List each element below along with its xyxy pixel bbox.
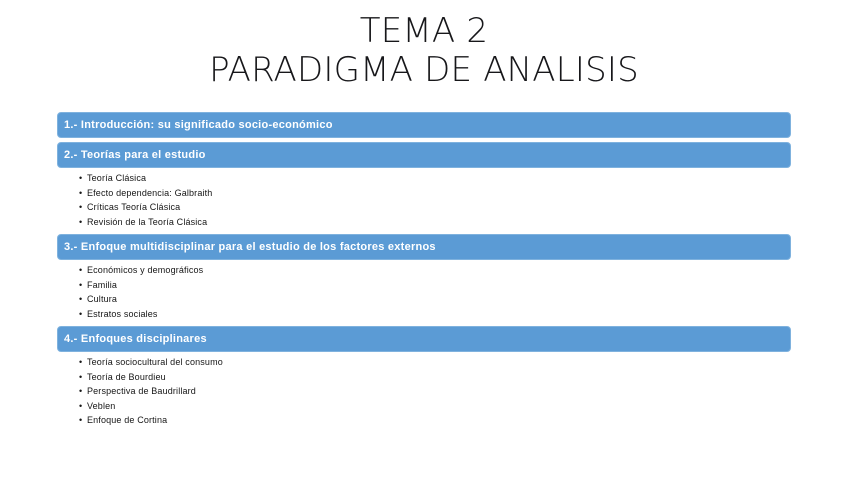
list-item-label: Cultura [87,294,117,304]
bullet-dot-icon: • [79,413,82,428]
list-item: •Estratos sociales [79,307,791,322]
list-item-label: Teoría sociocultural del consumo [87,357,223,367]
outline-body: 1.- Introducción: su significado socio-e… [57,112,791,428]
title-line-2: PARADIGMA DE ANALISIS [0,51,848,90]
list-item: •Perspectiva de Baudrillard [79,384,791,399]
slide-canvas: TEMA 2 PARADIGMA DE ANALISIS 1.- Introdu… [0,0,848,477]
bullet-dot-icon: • [79,384,82,399]
list-item: •Críticas Teoría Clásica [79,200,791,215]
bullet-dot-icon: • [79,399,82,414]
list-item: •Cultura [79,292,791,307]
bullet-dot-icon: • [79,215,82,230]
section-heading-bar-3[interactable]: 3.- Enfoque multidisciplinar para el est… [57,234,791,260]
list-item-label: Estratos sociales [87,309,158,319]
outline-section-4: 4.- Enfoques disciplinares •Teoría socio… [57,326,791,428]
bullet-list-3: •Económicos y demográficos •Familia •Cul… [57,263,791,321]
outline-section-3: 3.- Enfoque multidisciplinar para el est… [57,234,791,326]
list-item: •Enfoque de Cortina [79,413,791,428]
bullet-dot-icon: • [79,278,82,293]
bullet-dot-icon: • [79,355,82,370]
list-item-label: Críticas Teoría Clásica [87,202,180,212]
bullet-dot-icon: • [79,171,82,186]
list-item: •Familia [79,278,791,293]
list-item-label: Teoría Clásica [87,173,146,183]
title-line-1: TEMA 2 [0,12,848,51]
list-item: •Económicos y demográficos [79,263,791,278]
list-item: •Revisión de la Teoría Clásica [79,215,791,230]
list-item: •Veblen [79,399,791,414]
outline-section-2: 2.- Teorías para el estudio •Teoría Clás… [57,142,791,234]
list-item-label: Familia [87,280,117,290]
list-item-label: Efecto dependencia: Galbraith [87,188,212,198]
bullet-dot-icon: • [79,292,82,307]
list-item: •Teoría Clásica [79,171,791,186]
list-item-label: Revisión de la Teoría Clásica [87,217,207,227]
section-heading-bar-2[interactable]: 2.- Teorías para el estudio [57,142,791,168]
outline-section-1: 1.- Introducción: su significado socio-e… [57,112,791,142]
section-heading-bar-4[interactable]: 4.- Enfoques disciplinares [57,326,791,352]
bullet-list-2: •Teoría Clásica •Efecto dependencia: Gal… [57,171,791,229]
list-item-label: Enfoque de Cortina [87,415,167,425]
list-item-label: Perspectiva de Baudrillard [87,386,196,396]
list-item: •Teoría de Bourdieu [79,370,791,385]
page-title: TEMA 2 PARADIGMA DE ANALISIS [0,12,848,90]
bullet-dot-icon: • [79,370,82,385]
bullet-dot-icon: • [79,307,82,322]
list-item: •Efecto dependencia: Galbraith [79,186,791,201]
bullet-list-4: •Teoría sociocultural del consumo •Teorí… [57,355,791,428]
section-heading-bar-1[interactable]: 1.- Introducción: su significado socio-e… [57,112,791,138]
bullet-dot-icon: • [79,200,82,215]
list-item: •Teoría sociocultural del consumo [79,355,791,370]
bullet-dot-icon: • [79,263,82,278]
list-item-label: Veblen [87,401,115,411]
list-item-label: Económicos y demográficos [87,265,203,275]
bullet-dot-icon: • [79,186,82,201]
list-item-label: Teoría de Bourdieu [87,372,166,382]
